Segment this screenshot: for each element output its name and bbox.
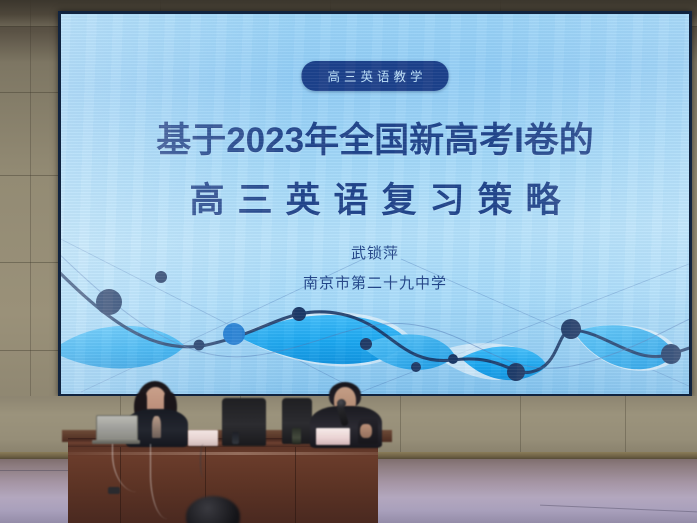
name-placard-right — [316, 428, 350, 445]
microphone-head — [337, 399, 346, 408]
wall-seam — [30, 0, 31, 400]
led-screen: 高三英语教学 基于2023年全国新高考I卷的 高三英语复习策略 武锁萍 南京市第… — [61, 14, 689, 394]
placard-text — [316, 435, 350, 440]
hand — [360, 424, 372, 438]
laptop-screen — [96, 415, 138, 443]
apron-seam — [520, 396, 521, 458]
slide-presenter-affiliation: 南京市第二十九中学 — [303, 272, 447, 293]
water-bottle — [292, 428, 301, 444]
slide-category-badge: 高三英语教学 — [301, 61, 448, 91]
slide-title-line1: 基于2023年全国新高考I卷的 — [156, 112, 594, 163]
placard-text — [188, 436, 218, 441]
apron-seam — [400, 396, 401, 458]
photograph-scene: 高三英语教学 基于2023年全国新高考I卷的 高三英语复习策略 武锁萍 南京市第… — [0, 0, 697, 523]
table-panel-seam — [295, 447, 296, 523]
slide-title-line2: 高三英语复习策略 — [176, 172, 573, 223]
slide-presenter-name: 武锁萍 — [351, 242, 399, 263]
cable-connector — [108, 487, 120, 494]
desk-object — [232, 432, 239, 444]
neckline — [152, 416, 161, 438]
cable — [200, 444, 207, 478]
apron-seam — [625, 396, 626, 458]
chair-back — [222, 398, 266, 446]
